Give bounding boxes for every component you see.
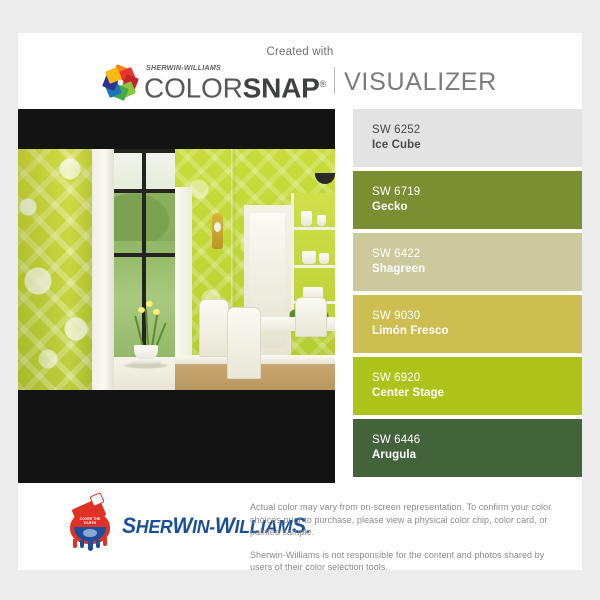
window-mullion-mid bbox=[114, 253, 175, 257]
colorsnap-pinwheel-icon bbox=[103, 65, 137, 99]
window-mullion-top bbox=[114, 149, 175, 153]
pot-saucer bbox=[130, 359, 162, 364]
swatch-code: SW 6252 bbox=[372, 123, 582, 138]
colorsnap-color-text: COLOR bbox=[144, 72, 243, 103]
shelf-book bbox=[302, 251, 316, 264]
swatch-name: Gecko bbox=[372, 200, 582, 215]
visualizer-text: VISUALIZER bbox=[344, 68, 497, 97]
paint-drip bbox=[73, 539, 77, 548]
disclaimer-block: Actual color may vary from on-screen rep… bbox=[250, 501, 560, 574]
shelf-object bbox=[319, 253, 329, 264]
room-photo-pane-left bbox=[18, 149, 175, 390]
daffodil-bloom bbox=[153, 309, 160, 315]
swatch-name: Shagreen bbox=[372, 262, 582, 277]
swatch-name: Ice Cube bbox=[372, 138, 582, 153]
color-swatch-list: SW 6252 Ice Cube SW 6719 Gecko SW 6422 S… bbox=[335, 109, 582, 483]
swatch-name: Center Stage bbox=[372, 386, 582, 401]
room-photo[interactable] bbox=[18, 109, 335, 483]
garden-window bbox=[114, 149, 175, 357]
registered-trademark-icon: ® bbox=[320, 79, 326, 89]
swatch-code: SW 9030 bbox=[372, 309, 582, 324]
window-mullion-upper bbox=[114, 189, 175, 193]
paint-drip bbox=[80, 540, 84, 548]
room-photo-panes bbox=[18, 149, 335, 390]
swatch-center-stage[interactable]: SW 6920 Center Stage bbox=[353, 357, 582, 415]
swatch-code: SW 6920 bbox=[372, 371, 582, 386]
wallpaper-shading-left bbox=[18, 149, 92, 390]
door-frame-left bbox=[175, 187, 192, 364]
card-header: Created with SHERWIN-WILLIAMS COLORSNAP®… bbox=[18, 33, 582, 109]
sherwin-williams-micro-label: SHERWIN-WILLIAMS bbox=[146, 63, 221, 72]
daffodil-bloom bbox=[146, 301, 153, 307]
cover-the-earth-icon: COVER THE EARTH bbox=[62, 494, 118, 552]
disclaimer-paragraph-1: Actual color may vary from on-screen rep… bbox=[250, 501, 560, 539]
dining-chair bbox=[227, 307, 261, 379]
disclaimer-paragraph-2: Sherwin-Williams is not responsible for … bbox=[250, 549, 560, 574]
card-footer: COVER THE EARTH SHERWIN-WILLIAMS. Actual… bbox=[18, 483, 582, 570]
shelf-vase bbox=[301, 211, 312, 226]
window-jamb bbox=[92, 149, 114, 390]
swatch-name: Limón Fresco bbox=[372, 324, 582, 339]
swatch-code: SW 6422 bbox=[372, 247, 582, 262]
colorsnap-brand-row: SHERWIN-WILLIAMS COLORSNAP® VISUALIZER bbox=[18, 59, 582, 105]
dining-chair bbox=[199, 299, 229, 357]
swatch-arugula[interactable]: SW 6446 Arugula bbox=[353, 419, 582, 477]
paint-drip bbox=[96, 540, 100, 548]
colorsnap-snap-text: SNAP bbox=[243, 72, 320, 103]
swatch-ice-cube[interactable]: SW 6252 Ice Cube bbox=[353, 109, 582, 167]
swatch-code: SW 6719 bbox=[372, 185, 582, 200]
brand-divider bbox=[334, 67, 335, 94]
dining-chair bbox=[295, 297, 327, 337]
wall-mirror bbox=[212, 213, 223, 249]
daffodil-bloom bbox=[138, 307, 145, 313]
shelf-vase bbox=[317, 215, 326, 226]
created-with-label: Created with bbox=[18, 46, 582, 58]
shelf-board bbox=[294, 265, 335, 268]
swatch-limon-fresco[interactable]: SW 9030 Limón Fresco bbox=[353, 295, 582, 353]
colorsnap-palette-card: Created with SHERWIN-WILLIAMS COLORSNAP®… bbox=[18, 33, 582, 570]
sherwin-williams-logo[interactable]: COVER THE EARTH SHERWIN-WILLIAMS. bbox=[48, 491, 238, 555]
shelf-board bbox=[294, 227, 335, 230]
swatch-code: SW 6446 bbox=[372, 433, 582, 448]
swatch-gecko[interactable]: SW 6719 Gecko bbox=[353, 171, 582, 229]
paint-drip bbox=[103, 538, 107, 546]
swatch-name: Arugula bbox=[372, 448, 582, 463]
paint-drip bbox=[88, 541, 93, 551]
mirror-glass bbox=[214, 222, 221, 232]
colorsnap-wordmark: SHERWIN-WILLIAMS COLORSNAP® bbox=[144, 61, 326, 103]
room-photo-pane-right bbox=[175, 149, 335, 390]
swatch-shagreen[interactable]: SW 6422 Shagreen bbox=[353, 233, 582, 291]
